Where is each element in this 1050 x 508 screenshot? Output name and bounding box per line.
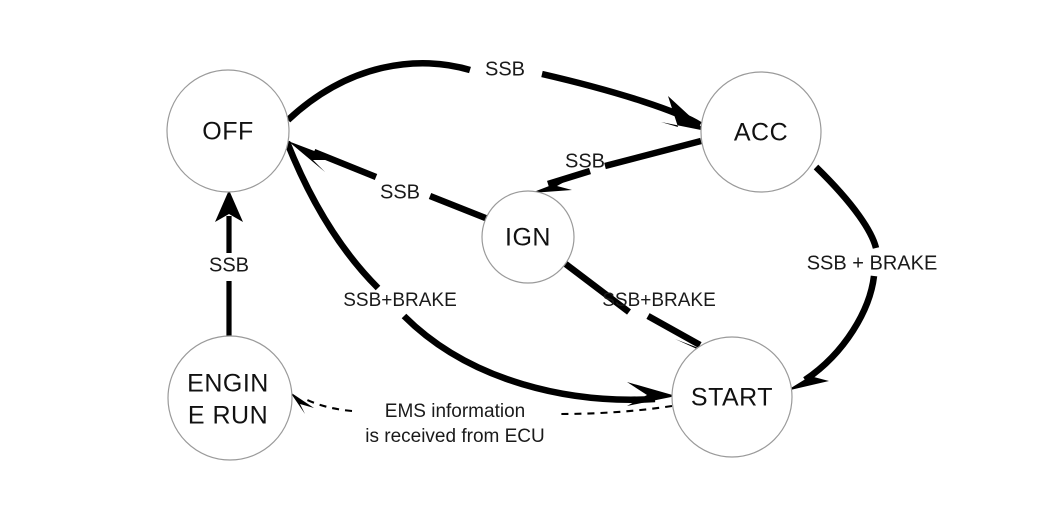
- edge-acc-to-start-path-upper: [816, 167, 876, 248]
- edge-off-to-acc: SSB: [288, 58, 706, 131]
- edge-acc-to-start-label: SSB + BRAKE: [807, 252, 938, 274]
- state-diagram-canvas: SSB SSB SSB SSB+BRAKE SSB+BR: [0, 0, 1050, 508]
- node-acc[interactable]: ACC: [701, 72, 821, 192]
- edge-off-to-acc-path-left: [288, 63, 470, 120]
- edge-acc-to-start: SSB + BRAKE: [786, 167, 937, 391]
- node-off[interactable]: OFF: [167, 70, 289, 192]
- edge-ign-to-start-path-lower: [648, 316, 700, 345]
- edge-acc-to-ign-path2: [548, 171, 590, 184]
- edge-off-to-start-path-lower: [404, 316, 655, 400]
- edge-enginerun-to-off-label: SSB: [209, 254, 249, 276]
- edge-off-to-start: SSB+BRAKE: [287, 142, 676, 406]
- edge-acc-to-start-path-lower: [805, 276, 874, 380]
- edge-off-to-start-path-upper: [287, 142, 378, 288]
- node-engine-run[interactable]: ENGIN E RUN: [168, 336, 292, 460]
- node-ign-label: IGN: [505, 224, 551, 252]
- edge-ign-to-off-path-lower: [430, 196, 488, 219]
- node-start-label: START: [691, 384, 773, 412]
- node-off-label: OFF: [202, 118, 254, 146]
- edge-off-to-acc-label: SSB: [485, 58, 525, 80]
- edge-ign-to-start-label: SSB+BRAKE: [602, 290, 716, 311]
- node-ign[interactable]: IGN: [482, 191, 574, 283]
- edge-ign-to-off-label: SSB: [380, 181, 420, 203]
- edge-acc-to-ign-path: [605, 141, 701, 166]
- edge-acc-to-ign: SSB: [531, 141, 701, 193]
- state-machine-diagram: SSB SSB SSB SSB+BRAKE SSB+BR: [0, 0, 1050, 508]
- edge-start-to-enginerun-path-left: [303, 398, 352, 411]
- node-start[interactable]: START: [672, 337, 792, 457]
- edge-off-to-start-label: SSB+BRAKE: [343, 290, 457, 311]
- node-engine-run-circle[interactable]: [168, 336, 292, 460]
- edge-acc-to-ign-arrowhead: [531, 176, 575, 193]
- edge-start-to-enginerun-path-right: [560, 406, 672, 414]
- edge-start-to-enginerun-label-line1: EMS information: [385, 401, 525, 422]
- edge-start-to-enginerun-arrowhead: [290, 392, 314, 414]
- node-engine-run-label-line1: ENGIN: [187, 370, 269, 398]
- node-acc-label: ACC: [734, 119, 788, 147]
- edge-acc-to-ign-label: SSB: [565, 150, 605, 172]
- edge-ign-to-start: SSB+BRAKE: [563, 262, 722, 361]
- edge-start-to-enginerun-label-line2: is received from ECU: [365, 426, 545, 447]
- edge-enginerun-to-off: SSB: [209, 190, 249, 336]
- node-engine-run-label-line2: E RUN: [188, 402, 268, 430]
